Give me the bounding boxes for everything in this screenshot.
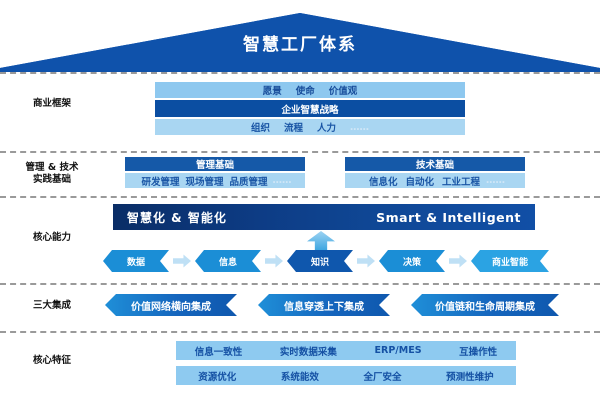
org-item-2: 人力: [317, 120, 336, 134]
org-item-0: 组织: [251, 120, 270, 134]
feature-item-4: 资源优化: [198, 369, 236, 383]
management-foundation-items: 研发管理 现场管理 品质管理 ……: [125, 173, 305, 188]
enterprise-strategy-bar: 企业智慧战略: [155, 100, 465, 117]
vision-item-2: 价值观: [329, 83, 358, 97]
divider-1: [0, 72, 600, 74]
roof-banner: 智慧工厂体系: [0, 0, 600, 72]
vision-item-1: 使命: [296, 83, 315, 97]
smart-banner-english: Smart & Intelligent: [376, 210, 521, 225]
sidebar-item-integrations: 三大集成: [4, 300, 100, 312]
integration-horizontal[interactable]: 价值网络横向集成: [105, 294, 237, 316]
chain-node-business-intelligence[interactable]: 商业智能: [471, 250, 549, 272]
chain-node-knowledge[interactable]: 知识: [287, 250, 353, 272]
mgmt-ellipsis: ……: [273, 175, 292, 186]
tech-item-0: 信息化: [369, 174, 398, 188]
tech-item-2: 工业工程: [442, 174, 480, 188]
feature-item-0: 信息一致性: [195, 344, 243, 358]
feature-item-7: 预测性维护: [446, 369, 494, 383]
divider-3: [0, 196, 600, 198]
technology-foundation-header: 技术基础: [345, 157, 525, 171]
sidebar-item-foundations: 管理 & 技术 实践基础: [4, 162, 100, 186]
smart-factory-diagram: 智慧工厂体系 商业框架 管理 & 技术 实践基础 核心能力 三大集成 核心特征 …: [0, 0, 600, 400]
sidebar-item-core-features: 核心特征: [4, 355, 100, 367]
page-title: 智慧工厂体系: [0, 30, 600, 55]
integration-lifecycle[interactable]: 价值链和生命周期集成: [411, 294, 559, 316]
business-framework-org-row: 组织 流程 人力 ……: [155, 119, 465, 135]
smart-intelligent-banner: 智慧化 & 智能化 Smart & Intelligent: [113, 204, 535, 230]
tech-item-1: 自动化: [405, 174, 434, 188]
sidebar-item-foundations-line2: 实践基础: [4, 174, 100, 186]
chain-arrow-icon-4: [449, 254, 467, 268]
integration-vertical[interactable]: 信息穿透上下集成: [258, 294, 390, 316]
feature-item-3: 互操作性: [459, 344, 497, 358]
mgmt-item-1: 现场管理: [185, 174, 223, 188]
org-ellipsis: ……: [350, 122, 369, 133]
feature-item-1: 实时数据采集: [280, 344, 337, 358]
core-features-row-1: 信息一致性 实时数据采集 ERP/MES 互操作性: [176, 341, 516, 360]
core-features-row-2: 资源优化 系统能效 全厂安全 预测性维护: [176, 366, 516, 385]
management-foundation-header: 管理基础: [125, 157, 305, 171]
sidebar-item-foundations-line1: 管理 & 技术: [4, 162, 100, 174]
tech-ellipsis: ……: [486, 175, 505, 186]
feature-item-2: ERP/MES: [375, 345, 422, 356]
divider-5: [0, 331, 600, 333]
chain-node-decision[interactable]: 决策: [379, 250, 445, 272]
chain-node-information[interactable]: 信息: [195, 250, 261, 272]
technology-foundation-items: 信息化 自动化 工业工程 ……: [345, 173, 525, 188]
chain-node-data[interactable]: 数据: [103, 250, 169, 272]
up-arrow-icon: [307, 231, 335, 251]
feature-item-5: 系统能效: [281, 369, 319, 383]
divider-4: [0, 283, 600, 285]
feature-item-6: 全厂安全: [364, 369, 402, 383]
mgmt-item-0: 研发管理: [141, 174, 179, 188]
chain-arrow-icon-2: [265, 254, 283, 268]
org-item-1: 流程: [284, 120, 303, 134]
divider-2: [0, 151, 600, 153]
sidebar-item-business-framework: 商业框架: [4, 98, 100, 110]
mgmt-item-2: 品质管理: [230, 174, 268, 188]
business-framework-vision-row: 愿景 使命 价值观: [155, 82, 465, 98]
sidebar-item-core-capability: 核心能力: [4, 232, 100, 244]
chain-arrow-icon-3: [357, 254, 375, 268]
vision-item-0: 愿景: [263, 83, 282, 97]
chain-arrow-icon-1: [173, 254, 191, 268]
smart-banner-chinese: 智慧化 & 智能化: [127, 209, 227, 226]
